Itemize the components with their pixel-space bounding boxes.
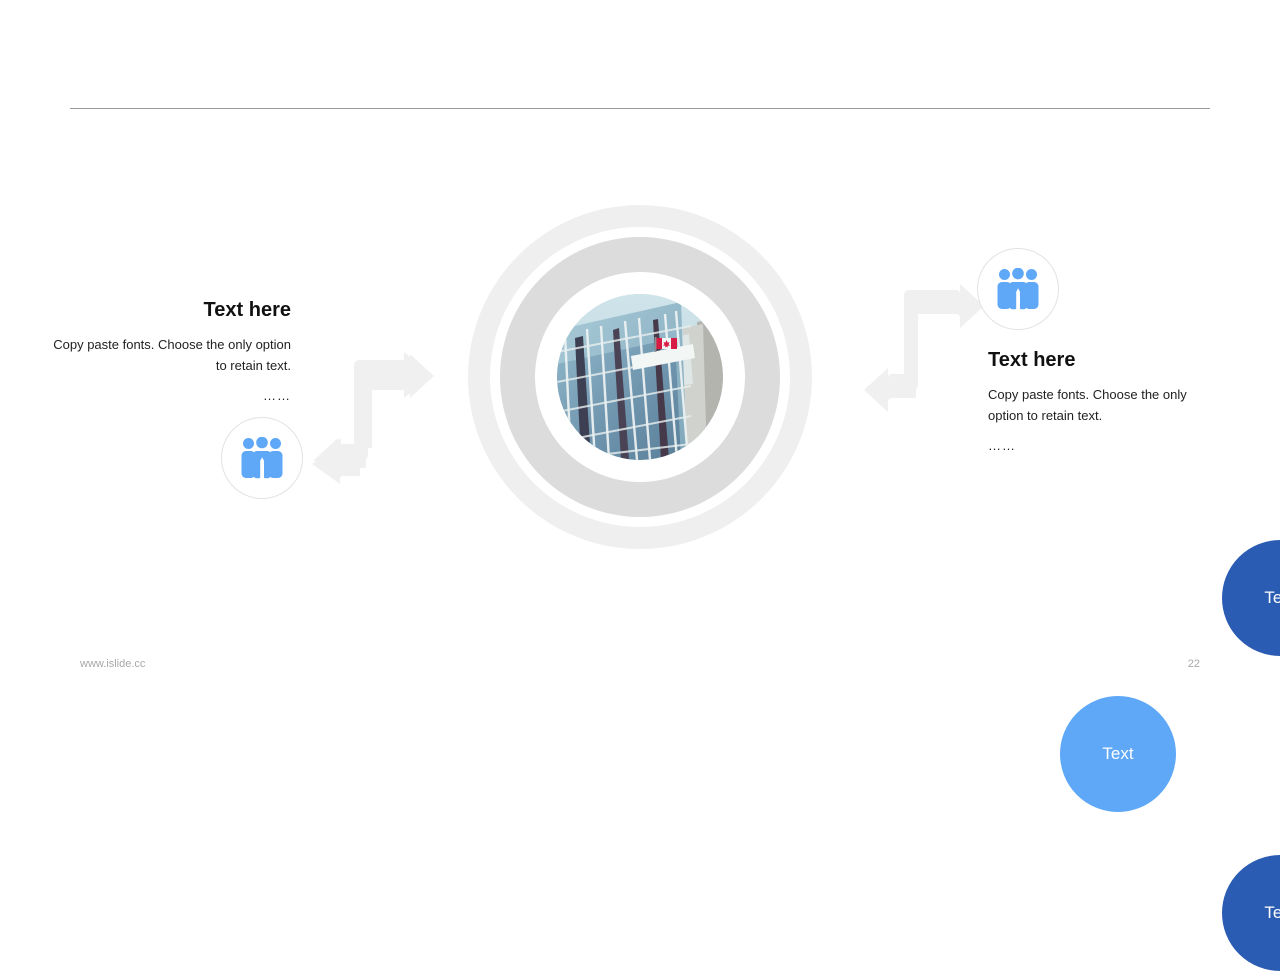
diagram-node-top-label: Text (1264, 588, 1280, 608)
connector-arrow-right (860, 282, 985, 407)
text-block-left: Text here Copy paste fonts. Choose the o… (51, 298, 291, 406)
diagram-node-left[interactable]: Text (1056, 692, 1180, 816)
people-group-icon-badge-right (977, 248, 1059, 330)
people-group-icon (240, 437, 284, 479)
diagram-node-top[interactable]: Text (1218, 536, 1280, 660)
text-block-left-ellipsis: …… (51, 385, 291, 406)
text-block-right-title: Text here (988, 348, 1203, 372)
people-group-icon-badge-left (221, 417, 303, 499)
people-group-icon (996, 268, 1040, 310)
building-photo-image (557, 294, 723, 460)
header-divider (70, 108, 1210, 109)
text-block-right-ellipsis: …… (988, 435, 1203, 456)
text-block-left-title: Text here (51, 298, 291, 322)
diagram-node-left-label: Text (1102, 744, 1133, 764)
footer-page-number: 22 (1170, 658, 1200, 670)
text-block-left-body: Copy paste fonts. Choose the only option… (51, 334, 291, 376)
connector-arrow-left (310, 352, 435, 477)
center-photo (550, 287, 730, 467)
diagram-node-bottom-label: Text (1264, 903, 1280, 923)
footer-url[interactable]: www.islide.cc (80, 658, 145, 670)
text-block-right-body: Copy paste fonts. Choose the only option… (988, 384, 1203, 426)
text-block-right: Text here Copy paste fonts. Choose the o… (988, 348, 1203, 456)
slide-canvas: Text Text Text Text (0, 0, 1280, 720)
diagram-node-bottom[interactable]: Text (1218, 851, 1280, 975)
